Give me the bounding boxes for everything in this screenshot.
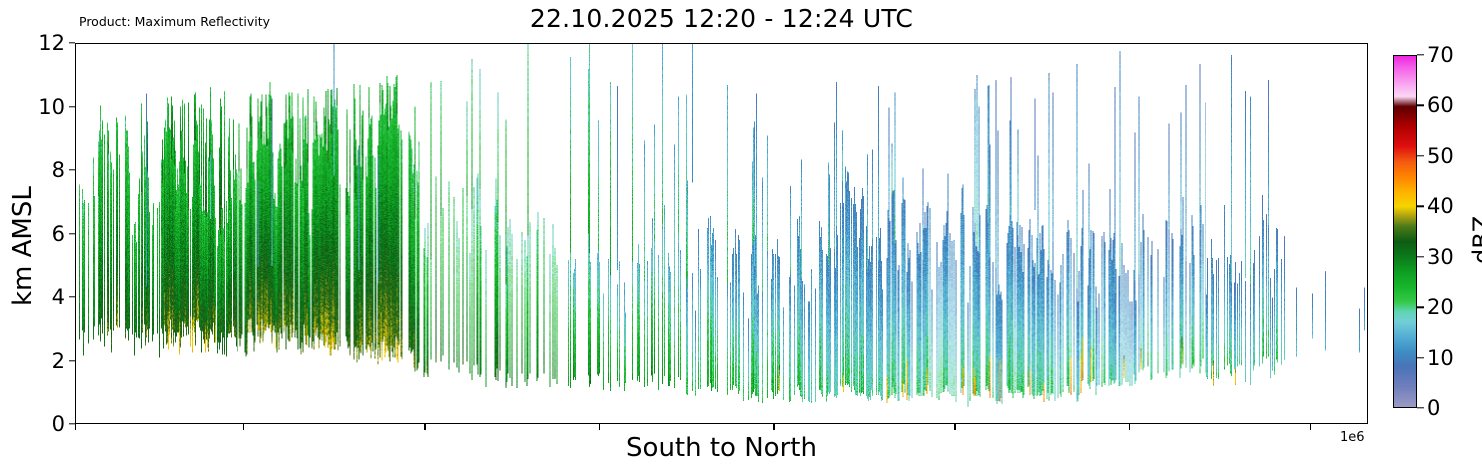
colorbar-tick-mark bbox=[1417, 206, 1424, 207]
product-annotation: Product: Maximum Reflectivity bbox=[79, 14, 270, 29]
colorbar-tick-label: 60 bbox=[1427, 93, 1454, 117]
x-tick-mark bbox=[243, 424, 244, 430]
x-axis-label: South to North bbox=[626, 433, 817, 463]
x-axis-exponent: 1e6 bbox=[1340, 430, 1365, 445]
colorbar-tick-mark bbox=[1417, 155, 1424, 156]
y-tick-label: 6 bbox=[52, 222, 65, 246]
colorbar-tick-mark bbox=[1417, 407, 1424, 408]
colorbar-tick-mark bbox=[1417, 105, 1424, 106]
colorbar-tick-mark bbox=[1417, 54, 1424, 55]
colorbar-tick-label: 30 bbox=[1427, 245, 1454, 269]
y-tick-label: 2 bbox=[52, 349, 65, 373]
y-tick-mark bbox=[69, 360, 75, 361]
y-tick-mark bbox=[69, 106, 75, 107]
radar-cross-section-figure: 22.10.2025 12:20 - 12:24 UTC Product: Ma… bbox=[0, 0, 1482, 470]
colorbar-tick-label: 40 bbox=[1427, 194, 1454, 218]
colorbar-tick-label: 50 bbox=[1427, 144, 1454, 168]
y-tick-label: 10 bbox=[38, 95, 65, 119]
colorbar-tick-label: 10 bbox=[1427, 346, 1454, 370]
colorbar-tick-label: 20 bbox=[1427, 295, 1454, 319]
y-tick-mark bbox=[69, 42, 75, 43]
y-axis-label: km AMSL bbox=[8, 186, 38, 306]
colorbar bbox=[1393, 55, 1417, 408]
y-tick-label: 12 bbox=[38, 31, 65, 55]
y-tick-mark bbox=[69, 169, 75, 170]
colorbar-tick-mark bbox=[1417, 357, 1424, 358]
colorbar-label: dBZ bbox=[1468, 215, 1482, 263]
y-tick-label: 8 bbox=[52, 158, 65, 182]
y-tick-mark bbox=[69, 296, 75, 297]
x-tick-mark bbox=[424, 424, 425, 430]
y-tick-label: 0 bbox=[52, 412, 65, 436]
x-tick-mark bbox=[599, 424, 600, 430]
x-tick-mark bbox=[1129, 424, 1130, 430]
colorbar-tick-label: 0 bbox=[1427, 396, 1440, 420]
colorbar-tick-mark bbox=[1417, 256, 1424, 257]
colorbar-tick-label: 70 bbox=[1427, 43, 1454, 67]
x-tick-mark bbox=[1310, 424, 1311, 430]
x-tick-mark bbox=[75, 424, 76, 430]
plot-area bbox=[75, 43, 1368, 424]
y-tick-label: 4 bbox=[52, 285, 65, 309]
y-tick-mark bbox=[69, 233, 75, 234]
reflectivity-heatmap bbox=[76, 44, 1367, 423]
x-tick-mark bbox=[773, 424, 774, 430]
colorbar-tick-mark bbox=[1417, 306, 1424, 307]
x-tick-mark bbox=[954, 424, 955, 430]
